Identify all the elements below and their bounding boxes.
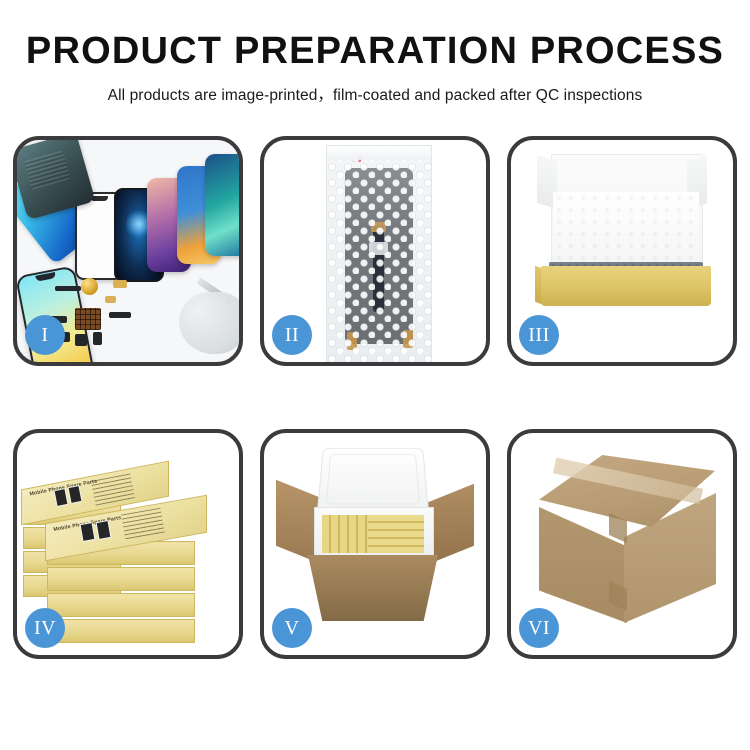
step-panel-iii[interactable]: III bbox=[507, 136, 737, 366]
phone-teal bbox=[205, 154, 239, 256]
antenna-part bbox=[109, 312, 131, 318]
bubble-wrap-bag bbox=[326, 145, 432, 362]
hand-blur bbox=[179, 292, 239, 354]
gold-connector-part bbox=[113, 280, 127, 288]
chip-grid-part bbox=[75, 308, 101, 330]
step-badge-iii: III bbox=[519, 315, 559, 355]
step-panel-vi[interactable]: VI bbox=[507, 429, 737, 659]
bubble-texture bbox=[327, 146, 431, 362]
yellow-boxes-stack bbox=[368, 515, 424, 553]
yellow-tray bbox=[541, 266, 711, 306]
step-panel-iv[interactable]: Mobile Phone Spare Parts Mobile Phone Sp… bbox=[13, 429, 243, 659]
carton-front bbox=[308, 555, 438, 621]
foam-sheet bbox=[553, 192, 699, 266]
step-panel-ii[interactable]: II bbox=[260, 136, 490, 366]
foam-lid bbox=[317, 448, 430, 514]
product-preparation-infographic: PRODUCT PREPARATION PROCESS All products… bbox=[0, 0, 750, 750]
step-badge-vi: VI bbox=[519, 608, 559, 648]
carton-flap-right bbox=[428, 484, 474, 565]
step-panel-i[interactable]: I bbox=[13, 136, 243, 366]
step-badge-i: I bbox=[25, 315, 65, 355]
sensor-part bbox=[93, 332, 102, 345]
bag-seal bbox=[327, 146, 431, 160]
page-title: PRODUCT PREPARATION PROCESS bbox=[0, 32, 750, 72]
box-front-3 bbox=[47, 593, 195, 617]
steps-grid: I II bbox=[0, 136, 750, 659]
page-subtitle: All products are image-printed，film-coat… bbox=[0, 83, 750, 105]
step-panel-v[interactable]: V bbox=[260, 429, 490, 659]
gold-contact-part bbox=[105, 296, 116, 303]
header: PRODUCT PREPARATION PROCESS All products… bbox=[0, 0, 750, 105]
vibration-motor-part bbox=[81, 278, 98, 295]
box-front-2 bbox=[47, 567, 195, 591]
button-part bbox=[75, 334, 87, 346]
step-badge-iv: IV bbox=[25, 608, 65, 648]
step-badge-v: V bbox=[272, 608, 312, 648]
earpiece-part bbox=[55, 286, 81, 291]
step-badge-ii: II bbox=[272, 315, 312, 355]
box-front-4 bbox=[47, 619, 195, 643]
